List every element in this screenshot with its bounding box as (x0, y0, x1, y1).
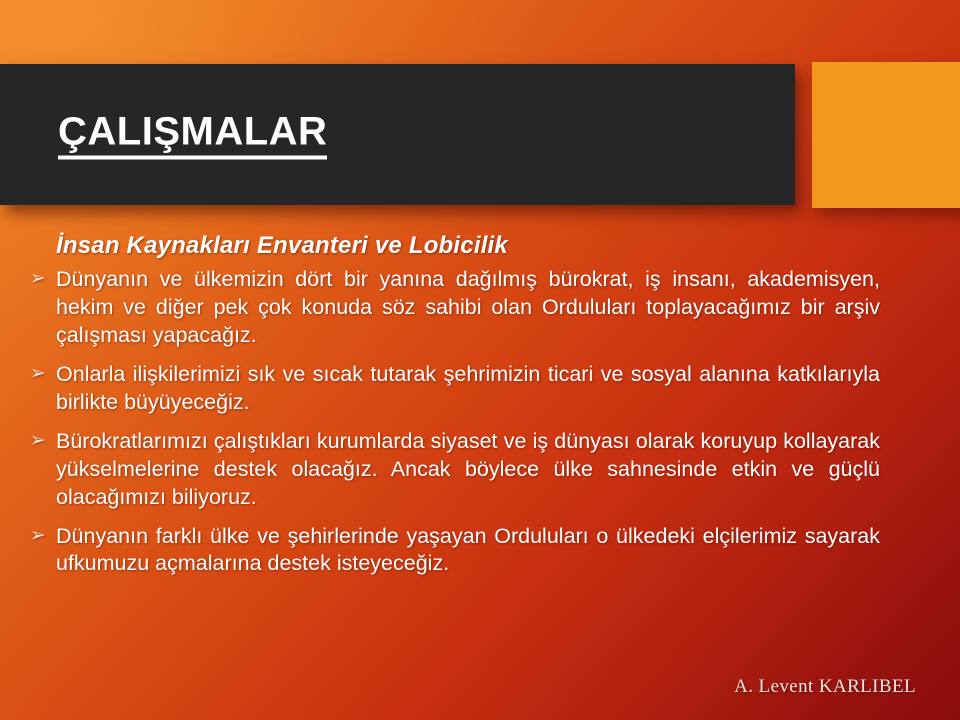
list-item-text: Onlarla ilişkilerimizi sık ve sıcak tuta… (56, 362, 880, 414)
arrowhead-bullet-icon: ➢ (30, 524, 46, 549)
arrowhead-bullet-icon: ➢ (30, 267, 46, 292)
title-band: ÇALIŞMALAR (0, 64, 795, 205)
section-subtitle: İnsan Kaynakları Envanteri ve Lobicilik (56, 232, 960, 260)
list-item-text: Bürokratlarımızı çalıştıkları kurumlarda… (56, 429, 880, 509)
slide-content: İnsan Kaynakları Envanteri ve Lobicilik … (0, 232, 960, 578)
arrowhead-bullet-icon: ➢ (30, 429, 46, 454)
list-item: ➢ Dünyanın ve ülkemizin dört bir yanına … (30, 266, 880, 350)
bullet-list: ➢ Dünyanın ve ülkemizin dört bir yanına … (0, 266, 960, 578)
presentation-slide: ÇALIŞMALAR İnsan Kaynakları Envanteri ve… (0, 0, 960, 720)
list-item-text: Dünyanın farklı ülke ve şehirlerinde yaş… (56, 524, 880, 576)
list-item-text: Dünyanın ve ülkemizin dört bir yanına da… (56, 267, 880, 347)
list-item: ➢ Dünyanın farklı ülke ve şehirlerinde y… (30, 523, 880, 579)
list-item: ➢ Bürokratlarımızı çalıştıkları kurumlar… (30, 428, 880, 512)
list-item: ➢ Onlarla ilişkilerimizi sık ve sıcak tu… (30, 361, 880, 417)
arrowhead-bullet-icon: ➢ (30, 362, 46, 387)
author-signature: A. Levent KARLIBEL (734, 676, 916, 698)
page-title: ÇALIŞMALAR (58, 110, 327, 159)
accent-block (812, 62, 960, 208)
